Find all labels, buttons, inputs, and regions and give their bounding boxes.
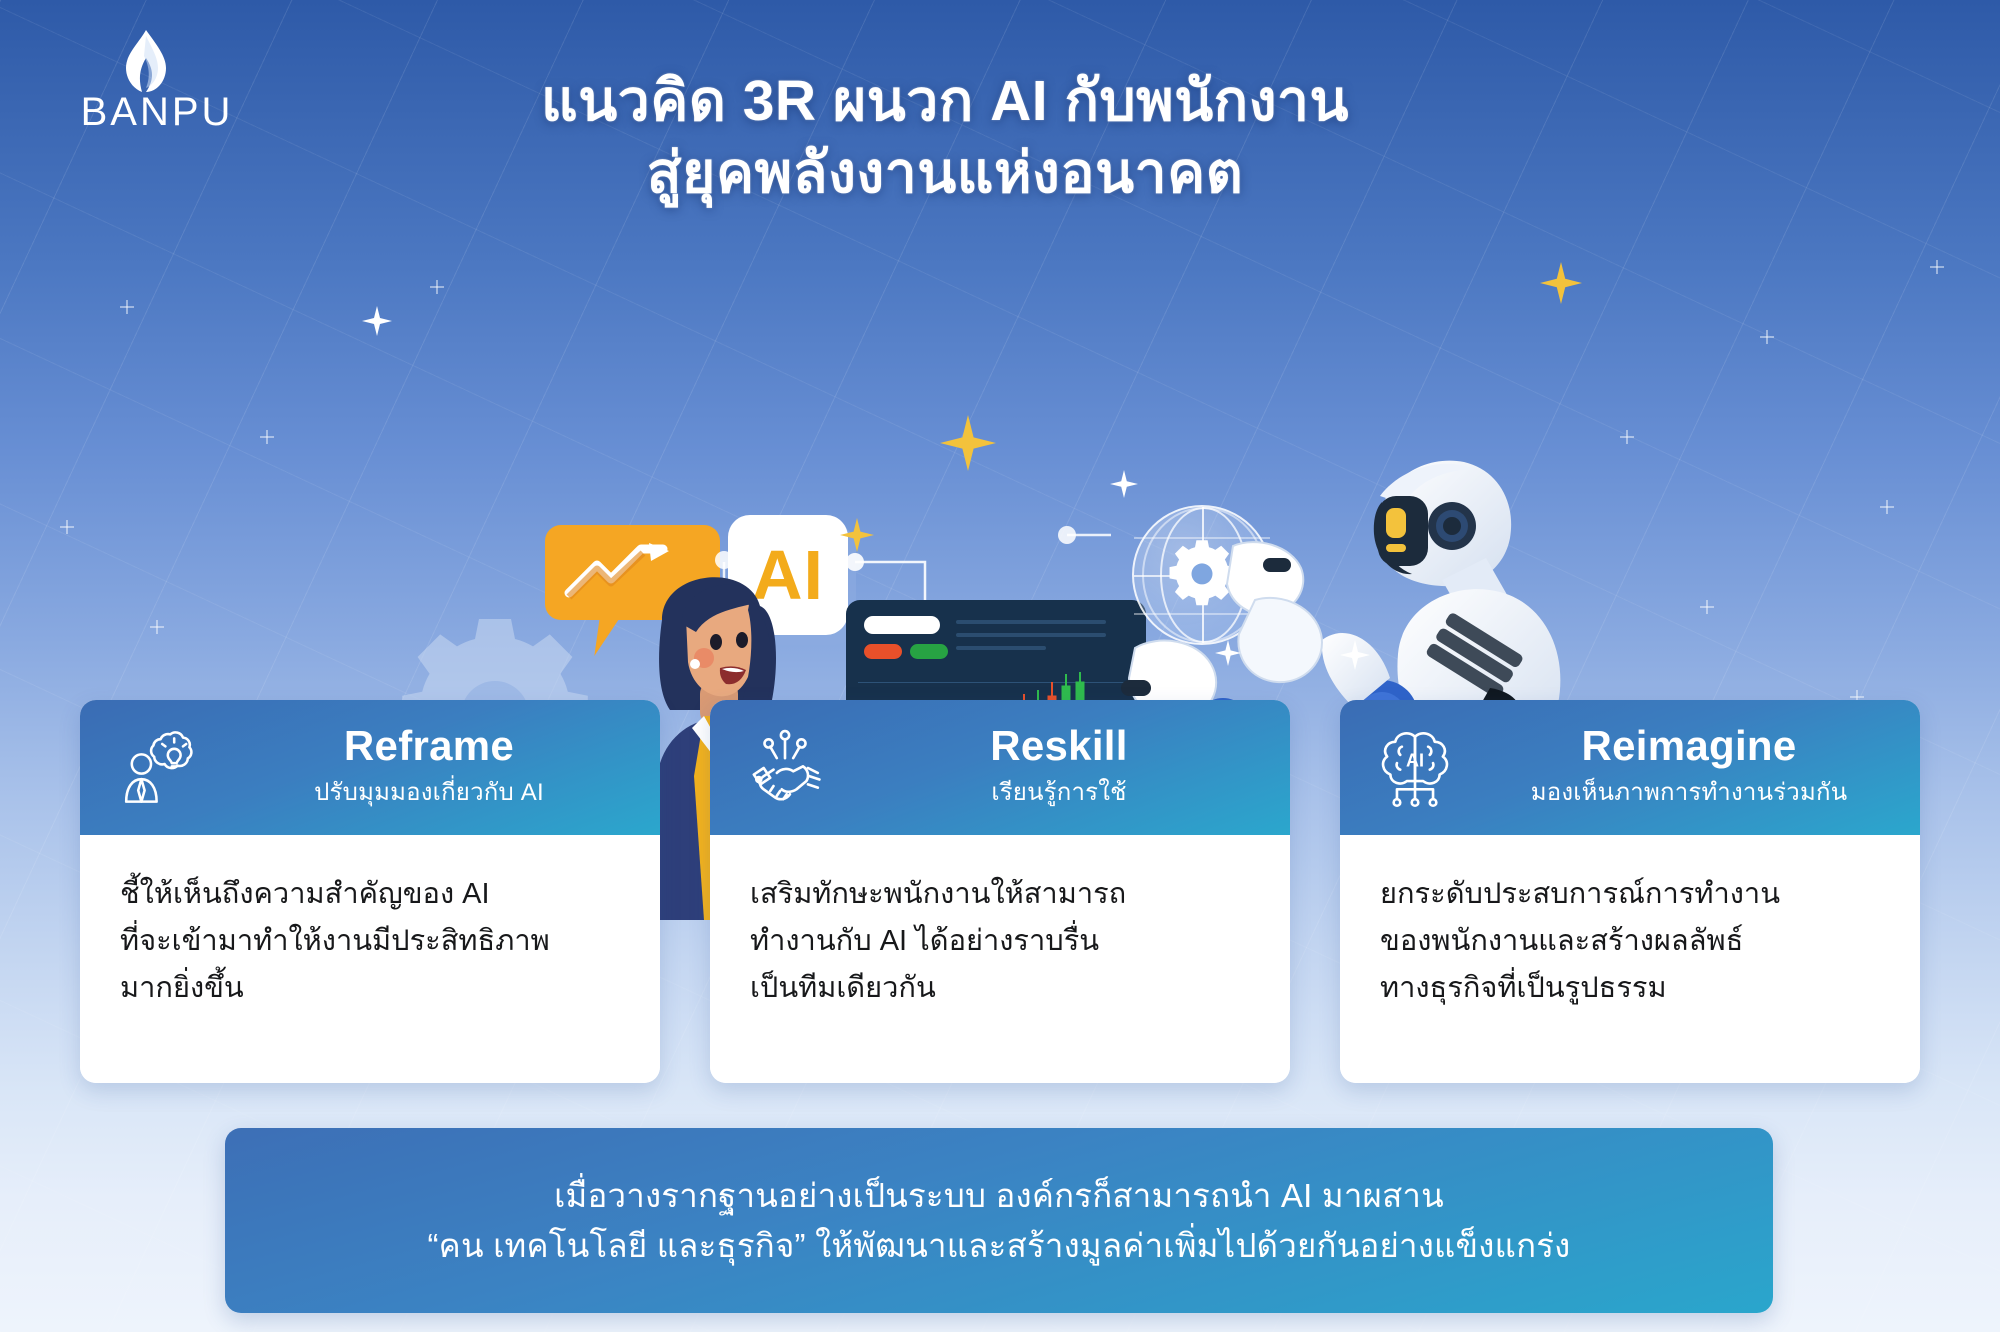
brand-name: BANPU [52,90,262,135]
card-body: ยกระดับประสบการณ์การทำงาน ของพนักงานและส… [1340,835,1920,1083]
card-body-line: ที่จะเข้ามาทำให้งานมีประสิทธิภาพ [120,918,620,965]
card-body-line: มากยิ่งขึ้น [120,965,620,1012]
card-header: Reskill เรียนรู้การใช้ [710,700,1290,835]
card-reimagine[interactable]: AI Reimagine มองเห็นภาพการทำงานร่วมกัน ย… [1340,700,1920,1083]
title-line-1: แนวคิด 3R ผนวก AI กับพนักงาน [330,66,1560,138]
title-line-2: สู่ยุคพลังงานแห่งอนาคต [330,138,1560,210]
card-reskill[interactable]: Reskill เรียนรู้การใช้ เสริมทักษะพนักงาน… [710,700,1290,1083]
card-title: Reskill [852,724,1266,768]
card-reframe[interactable]: Reframe ปรับมุมมองเกี่ยวกับ AI ชี้ให้เห็… [80,700,660,1083]
sparkle-icon [940,415,996,471]
card-body: ชี้ให้เห็นถึงความสำคัญของ AI ที่จะเข้ามา… [80,835,660,1083]
card-subtitle: เรียนรู้การใช้ [852,772,1266,811]
card-header: AI Reimagine มองเห็นภาพการทำงานร่วมกัน [1340,700,1920,835]
card-body-line: ทางธุรกิจที่เป็นรูปธรรม [1380,965,1880,1012]
sparkle-icon [1540,262,1582,304]
handshake-tech-icon [744,727,826,809]
page-title: แนวคิด 3R ผนวก AI กับพนักงาน สู่ยุคพลังง… [330,66,1560,210]
card-subtitle: มองเห็นภาพการทำงานร่วมกัน [1482,772,1896,811]
three-r-cards: Reframe ปรับมุมมองเกี่ยวกับ AI ชี้ให้เห็… [0,700,2000,1100]
card-body-line: เสริมทักษะพนักงานให้สามารถ [750,871,1250,918]
card-title-block: Reskill เรียนรู้การใช้ [852,724,1272,811]
sparkle-icon [1110,470,1138,498]
card-title: Reimagine [1482,724,1896,768]
card-body-line: เป็นทีมเดียวกัน [750,965,1250,1012]
flame-logo-icon [110,28,182,99]
card-title: Reframe [222,724,636,768]
sparkle-icon [362,306,392,336]
banpu-logo: BANPU [52,28,262,138]
screen-tag-green [910,644,948,659]
hero-illustration: AI [0,200,2000,720]
card-header: Reframe ปรับมุมมองเกี่ยวกับ AI [80,700,660,835]
card-subtitle: ปรับมุมมองเกี่ยวกับ AI [222,772,636,811]
infographic-canvas: BANPU แนวคิด 3R ผนวก AI กับพนักงาน สู่ยุ… [0,0,2000,1332]
summary-banner: เมื่อวางรากฐานอย่างเป็นระบบ องค์กรก็สามา… [225,1128,1773,1313]
card-title-block: Reframe ปรับมุมมองเกี่ยวกับ AI [222,724,642,811]
sparkle-icon [1340,640,1370,670]
svg-text:AI: AI [1406,750,1424,770]
summary-line-2: “คน เทคโนโลยี และธุรกิจ” ให้พัฒนาและสร้า… [427,1221,1570,1271]
sparkle-icon [840,518,874,552]
sparkle-icon [1215,640,1241,666]
card-body-line: ของพนักงานและสร้างผลลัพธ์ [1380,918,1880,965]
card-body: เสริมทักษะพนักงานให้สามารถ ทำงานกับ AI ไ… [710,835,1290,1083]
card-body-line: ทำงานกับ AI ได้อย่างราบรื่น [750,918,1250,965]
card-body-line: ยกระดับประสบการณ์การทำงาน [1380,871,1880,918]
card-title-block: Reimagine มองเห็นภาพการทำงานร่วมกัน [1482,724,1902,811]
ai-brain-circuit-icon: AI [1374,727,1456,809]
person-idea-bulb-icon [114,727,196,809]
summary-line-1: เมื่อวางรากฐานอย่างเป็นระบบ องค์กรก็สามา… [554,1171,1444,1221]
card-body-line: ชี้ให้เห็นถึงความสำคัญของ AI [120,871,620,918]
